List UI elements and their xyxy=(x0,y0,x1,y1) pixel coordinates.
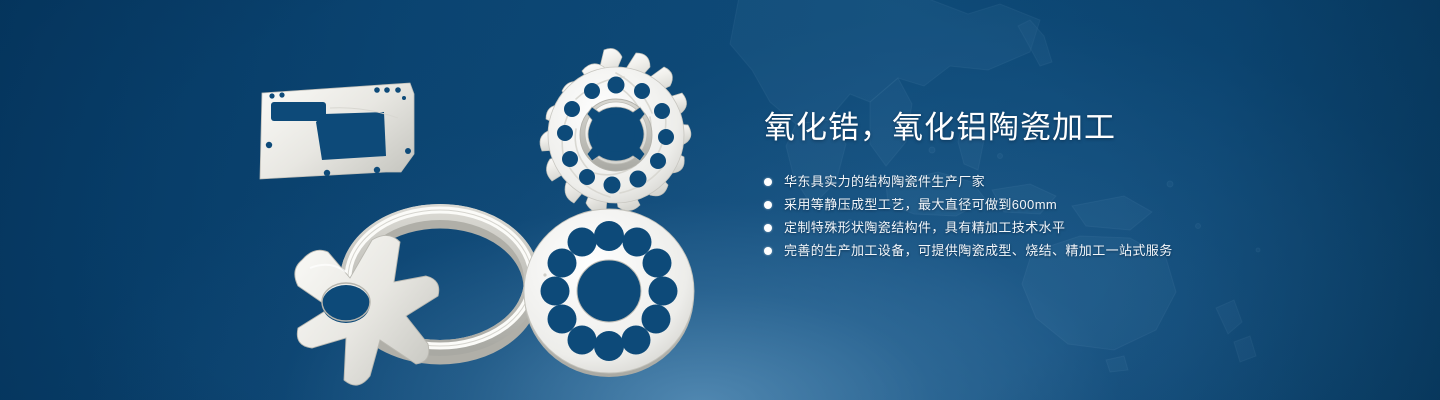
list-item: 采用等静压成型工艺，最大直径可做到600mm xyxy=(764,193,1384,216)
perforated-ceramic-disc xyxy=(524,209,694,377)
bullet-dot-icon xyxy=(764,178,772,186)
page-title: 氧化锆，氧化铝陶瓷加工 xyxy=(764,108,1384,148)
ceramic-impeller xyxy=(540,49,691,212)
machined-ceramic-plate xyxy=(260,83,414,179)
list-item-label: 完善的生产加工设备，可提供陶瓷成型、烧结、精加工一站式服务 xyxy=(784,239,1173,262)
list-item: 华东具实力的结构陶瓷件生产厂家 xyxy=(764,170,1384,193)
list-item: 定制特殊形状陶瓷结构件，具有精加工技术水平 xyxy=(764,216,1384,239)
list-item-label: 采用等静压成型工艺，最大直径可做到600mm xyxy=(784,193,1057,216)
banner-copy: 氧化锆，氧化铝陶瓷加工 华东具实力的结构陶瓷件生产厂家 采用等静压成型工艺，最大… xyxy=(764,108,1384,262)
list-item-label: 华东具实力的结构陶瓷件生产厂家 xyxy=(784,170,985,193)
bullet-dot-icon xyxy=(764,247,772,255)
bullet-dot-icon xyxy=(764,201,772,209)
ceramic-cross-part xyxy=(295,235,439,385)
hero-banner: 氧化锆，氧化铝陶瓷加工 华东具实力的结构陶瓷件生产厂家 采用等静压成型工艺，最大… xyxy=(0,0,1440,400)
list-item-label: 定制特殊形状陶瓷结构件，具有精加工技术水平 xyxy=(784,216,1065,239)
list-item: 完善的生产加工设备，可提供陶瓷成型、烧结、精加工一站式服务 xyxy=(764,239,1384,262)
bullet-dot-icon xyxy=(764,224,772,232)
feature-list: 华东具实力的结构陶瓷件生产厂家 采用等静压成型工艺，最大直径可做到600mm 定… xyxy=(764,170,1384,262)
ceramic-cross-part-and-ring xyxy=(295,210,532,385)
product-photo-collage xyxy=(238,46,708,391)
